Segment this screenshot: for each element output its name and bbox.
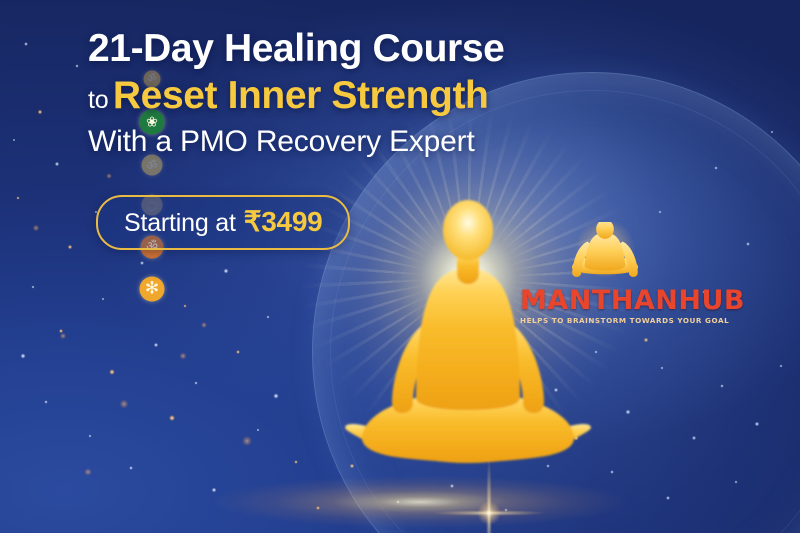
headline-line-2: to Reset Inner Strength — [88, 75, 558, 116]
headline-line-1: 21-Day Healing Course — [88, 28, 558, 70]
logo-tagline: HELPS TO BRAINSTORM TOWARDS YOUR GOAL — [520, 317, 690, 326]
headline-line-3: With a PMO Recovery Expert — [88, 125, 558, 158]
price-badge[interactable]: Starting at ₹3499 — [96, 195, 350, 250]
logo-wordmark: MANTHANHUB — [520, 287, 690, 314]
headline-line-2-prefix: to — [88, 86, 108, 114]
price-badge-label: Starting at — [124, 209, 236, 238]
logo-meditating-figure-icon — [545, 222, 665, 284]
headline-line-2-highlight: Reset Inner Strength — [113, 74, 489, 117]
base-chakra: ✻ — [140, 277, 165, 302]
price-badge-amount: ₹3499 — [244, 205, 323, 238]
brand-logo[interactable]: MANTHANHUB HELPS TO BRAINSTORM TOWARDS Y… — [520, 222, 690, 326]
promo-banner: ॐ❀ॐ○ॐ✻ 21-Day Healing Course to Reset In… — [0, 0, 800, 533]
headline-block: 21-Day Healing Course to Reset Inner Str… — [88, 28, 558, 158]
